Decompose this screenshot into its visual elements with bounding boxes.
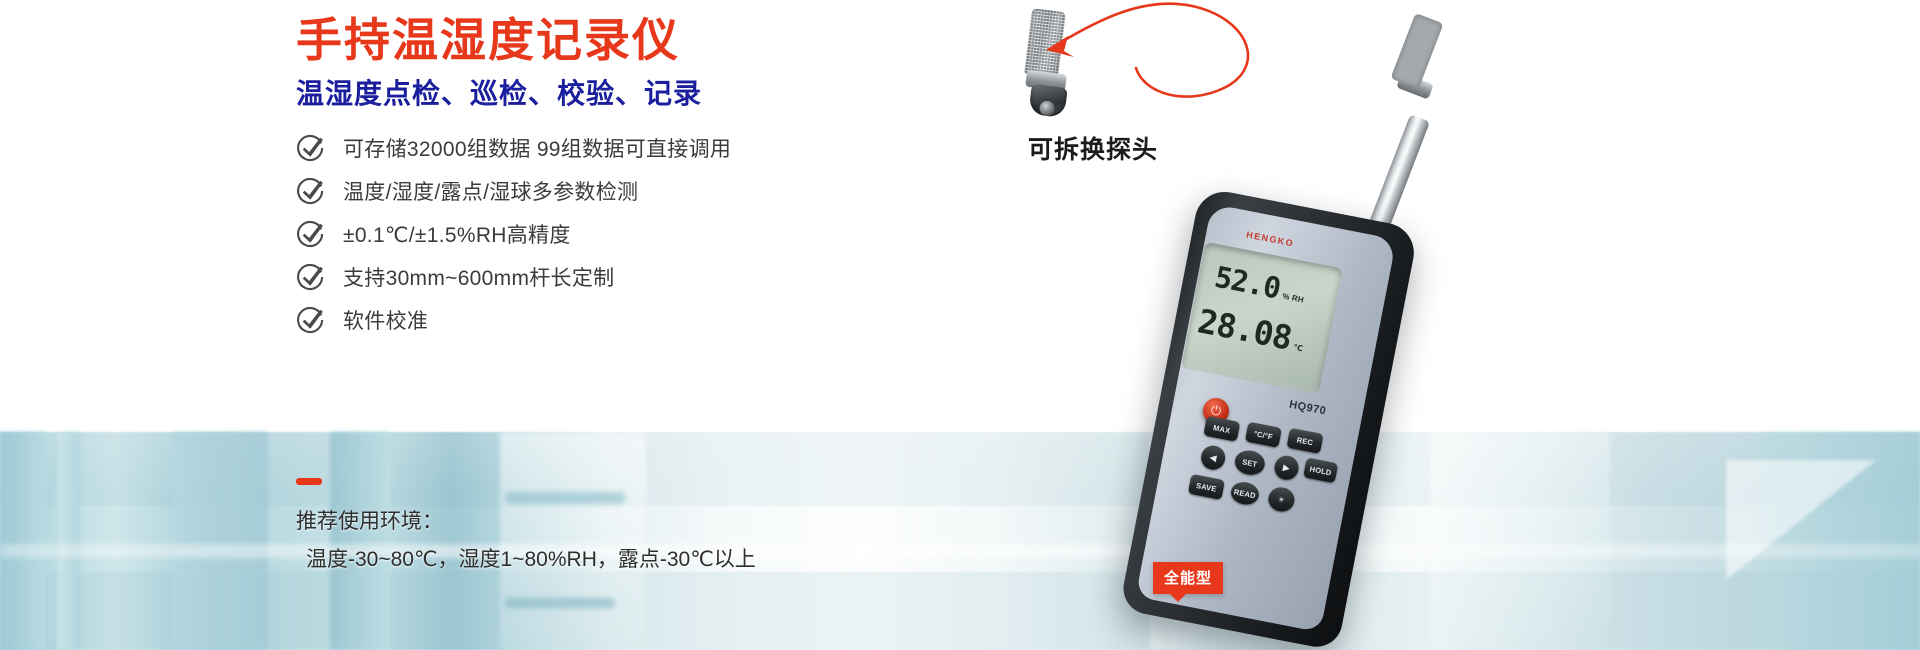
key-unit[interactable]: °C/°F [1245, 422, 1282, 448]
check-circle-icon [296, 176, 326, 206]
key-save[interactable]: SAVE [1188, 474, 1225, 500]
background-column [0, 432, 46, 650]
key-left[interactable]: ◀ [1199, 444, 1227, 472]
background-column [172, 432, 268, 650]
background-column [58, 432, 80, 650]
check-circle-icon [296, 262, 326, 292]
note-divider [296, 478, 322, 485]
list-item-label: 软件校准 [343, 305, 428, 335]
probe-tip-mesh [1390, 13, 1443, 89]
product-banner: 手持温湿度记录仪 温湿度点检、巡检、校验、记录 可存储32000组数据 99组数… [0, 0, 1920, 650]
list-item-label: ±0.1℃/±1.5%RH高精度 [343, 219, 571, 249]
list-item-label: 可存储32000组数据 99组数据可直接调用 [343, 133, 731, 163]
status-badge: 全能型 [1153, 562, 1223, 594]
handheld-meter: HENGKO 52.0 % RH 28.08 ℃ HQ970 MAX °C/°F… [1106, 22, 1556, 642]
check-circle-icon [296, 133, 326, 163]
lcd-temperature-value: 28.08 [1195, 304, 1294, 354]
key-read[interactable]: READ [1229, 480, 1261, 507]
check-circle-icon [296, 305, 326, 335]
lcd-humidity-unit: % RH [1282, 292, 1305, 305]
key-set[interactable]: SET [1233, 448, 1267, 477]
lcd-display: 52.0 % RH 28.08 ℃ [1181, 242, 1343, 394]
key-maxmin[interactable]: MAX [1203, 416, 1240, 442]
key-hold[interactable]: HOLD [1303, 457, 1338, 483]
background-streak [505, 598, 615, 608]
product-image-area: 可拆换探头 HENGKO 52.0 % RH 28.08 ℃ HQ970 [930, 0, 1920, 650]
list-item-label: 支持30mm~600mm杆长定制 [343, 262, 614, 292]
lcd-temperature-row: 28.08 ℃ [1187, 303, 1331, 362]
key-backlight[interactable]: ☀ [1266, 485, 1296, 514]
lcd-humidity-value: 52.0 [1212, 263, 1282, 304]
key-right[interactable]: ▶ [1272, 454, 1300, 482]
list-item-label: 温度/湿度/露点/湿球多参数检测 [343, 176, 638, 206]
check-circle-icon [296, 219, 326, 249]
lcd-temperature-unit: ℃ [1293, 343, 1304, 354]
